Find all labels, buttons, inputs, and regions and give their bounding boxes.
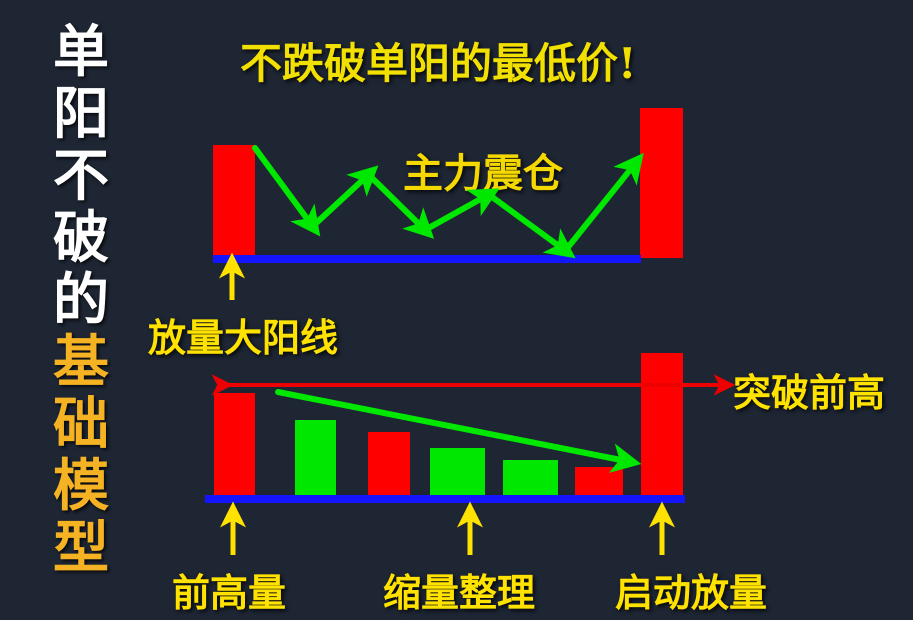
- zigzag-leg-6: [565, 165, 634, 251]
- vertical-title: 单 阳 不 破 的 基 础 模 型: [50, 22, 112, 580]
- bottom-bar-2: [295, 420, 336, 495]
- zigzag-leg-2: [313, 176, 367, 226]
- annotation-overlay: [0, 0, 913, 620]
- bottom-support-line: [205, 495, 685, 503]
- top-bar-yang: [213, 145, 255, 255]
- bottom-bar-6: [575, 467, 623, 495]
- bottom-bar-5: [503, 460, 558, 495]
- zigzag-leg-4: [425, 196, 486, 230]
- zhuli-zhencang-caption: 主力震仓: [403, 141, 563, 199]
- diagram-canvas: 单 阳 不 破 的 基 础 模 型 不跌破单阳的最低价! 主力震仓 放量大阳线 …: [0, 0, 913, 620]
- bottom-bar-3: [368, 432, 410, 495]
- fangliang-dayangxian-caption: 放量大阳线: [148, 307, 338, 362]
- vertical-title-char-8: 型: [53, 518, 109, 580]
- bottom-bar-7: [641, 353, 683, 495]
- tupo-qiangao-caption: 突破前高: [733, 362, 885, 417]
- vertical-title-char-5: 基: [53, 332, 109, 394]
- top-bar-breakout: [640, 108, 683, 258]
- qidong-fangliang-caption: 启动放量: [615, 562, 767, 617]
- bottom-bar-4: [430, 448, 485, 495]
- qiangaoliang-caption: 前高量: [172, 562, 286, 617]
- vertical-title-char-3: 破: [53, 208, 109, 270]
- vertical-title-char-0: 单: [53, 22, 109, 84]
- vertical-title-char-1: 阳: [53, 84, 109, 146]
- top-support-line: [213, 255, 641, 263]
- suoliang-zhengli-caption: 缩量整理: [383, 562, 535, 617]
- bottom-bar-1: [214, 393, 255, 495]
- vertical-title-char-4: 的: [53, 270, 109, 332]
- zigzag-leg-5: [488, 194, 563, 249]
- vertical-title-char-2: 不: [53, 146, 109, 208]
- vertical-title-char-6: 础: [53, 394, 109, 456]
- vertical-title-char-7: 模: [53, 456, 109, 518]
- headline-caption: 不跌破单阳的最低价!: [240, 30, 636, 91]
- zigzag-leg-1: [255, 148, 311, 224]
